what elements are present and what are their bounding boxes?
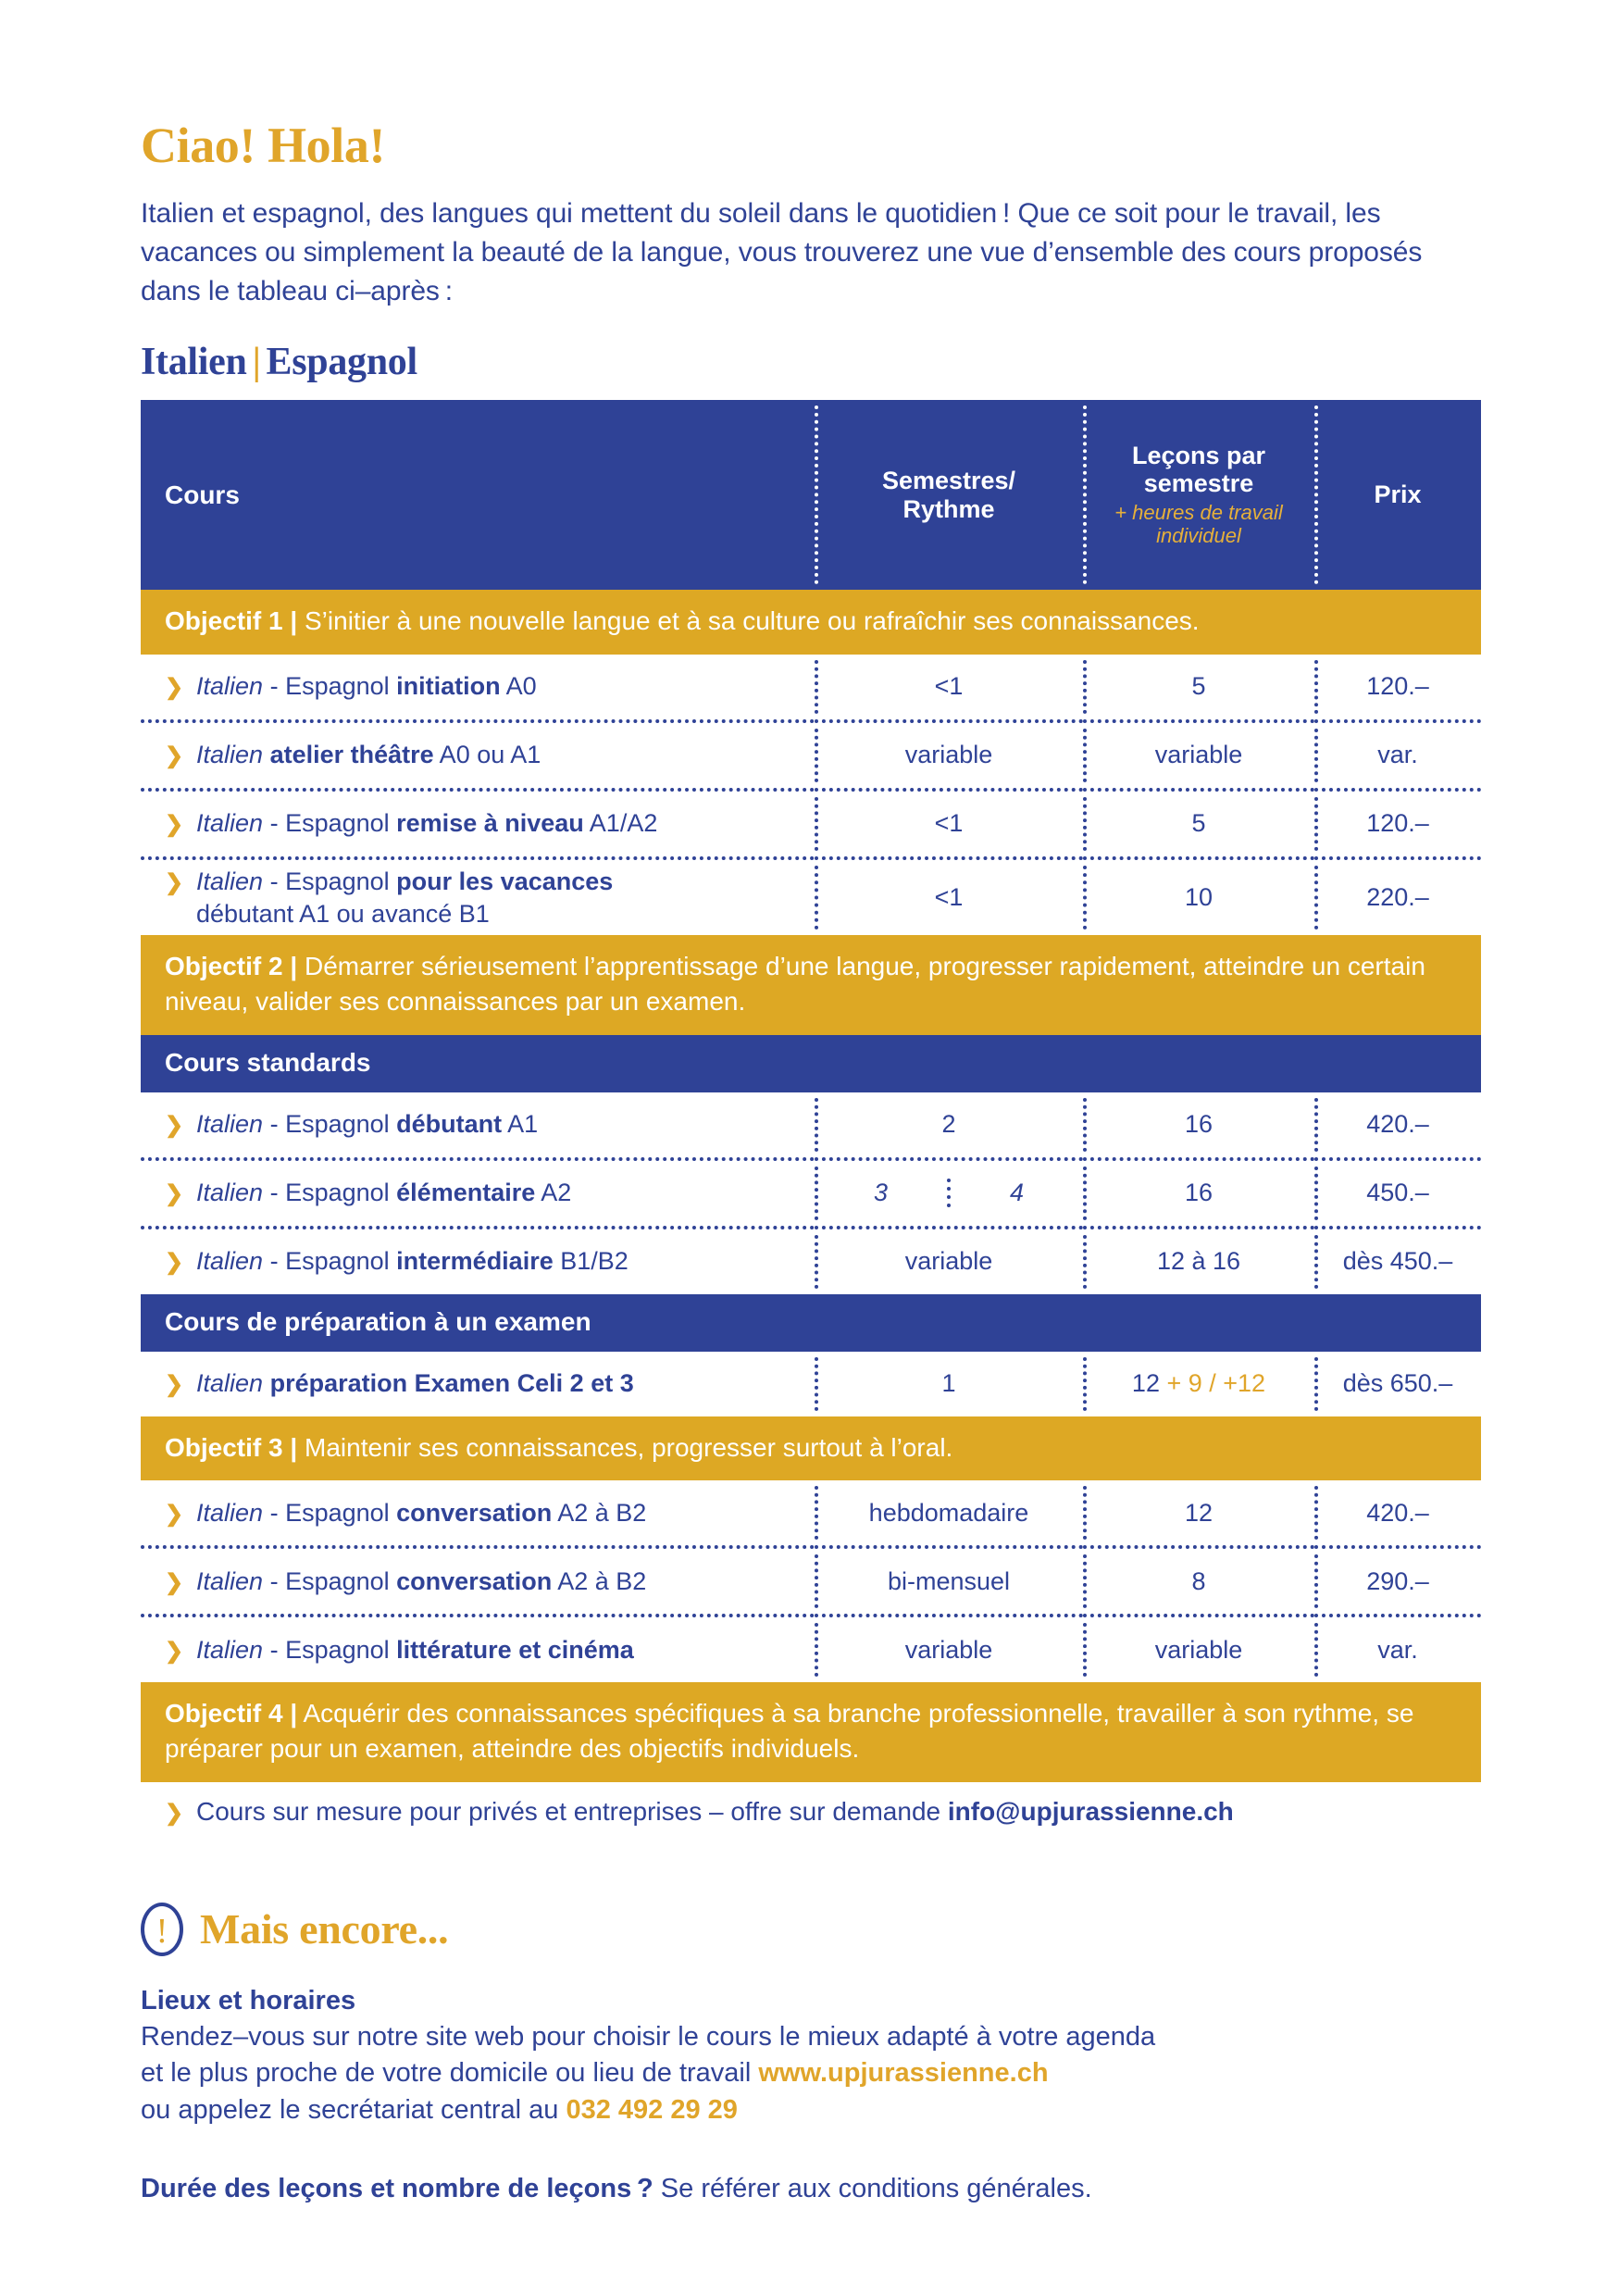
course-level-bold: remise à niveau <box>396 809 584 837</box>
course-level-bold: débutant <box>396 1110 502 1138</box>
chevron-right-icon: ❯ <box>165 1501 196 1529</box>
column-header-semesters-line2: Rythme <box>902 495 994 523</box>
objective-band-4: Objectif 4 | Acquérir des connaissances … <box>141 1682 1481 1782</box>
courses-table: Cours Semestres/ Rythme Leçons par semes… <box>141 400 1481 1836</box>
course-level-tail: A1 <box>502 1110 538 1138</box>
locations-line-1: Rendez–vous sur notre site web pour choi… <box>141 2019 1455 2055</box>
cell-semesters: <1 <box>815 790 1083 858</box>
more-section-title: Mais encore... <box>200 1908 448 1951</box>
locations-heading: Lieux et horaires <box>141 1984 1455 2019</box>
cell-lessons: variable <box>1083 1616 1314 1682</box>
course-name-cell: ❯Italien - Espagnol élémentaire A2 <box>141 1159 815 1228</box>
locations-line-3: ou appelez le secrétariat central au 032… <box>141 2092 1455 2128</box>
cell-lessons: variable <box>1083 721 1314 790</box>
course-lang: Italien <box>196 1247 263 1275</box>
cell-semesters-option-b: 4 <box>947 1179 1083 1207</box>
course-name-cell: ❯Italien - Espagnol débutant A1 <box>141 1092 815 1159</box>
table-row[interactable]: ❯Italien - Espagnol débutant A1 2 16 420… <box>141 1092 1481 1159</box>
course-lang: Italien <box>196 1369 263 1397</box>
course-name-cell: ❯Italien - Espagnol remise à niveau A1/A… <box>141 790 815 858</box>
table-row[interactable]: ❯Italien - Espagnol remise à niveau A1/A… <box>141 790 1481 858</box>
locations-line-2-text: et le plus proche de votre domicile ou l… <box>141 2058 758 2088</box>
column-header-lessons-line2: semestre <box>1144 469 1254 497</box>
chevron-right-icon: ❯ <box>165 1249 196 1278</box>
course-lang: Italien <box>196 672 263 700</box>
table-header-row: Cours Semestres/ Rythme Leçons par semes… <box>141 400 1481 590</box>
cell-semesters: hebdomadaire <box>815 1480 1083 1547</box>
cell-semesters: variable <box>815 1228 1083 1294</box>
course-level-bold: pour les vacances <box>396 867 613 895</box>
table-row[interactable]: ❯Italien - Espagnol littérature et ciném… <box>141 1616 1481 1682</box>
objective-band-3-content: Objectif 3 | Maintenir ses connaissances… <box>141 1416 1481 1481</box>
course-level-bold: préparation Examen Celi 2 et 3 <box>270 1369 634 1397</box>
objective-2-label: Objectif 2 <box>165 952 283 980</box>
cell-price: 220.– <box>1314 858 1481 935</box>
chevron-right-icon: ❯ <box>165 1371 196 1400</box>
course-level-bold: atelier théâtre <box>270 741 434 768</box>
subsection-band-exam: Cours de préparation à un examen <box>141 1294 1481 1352</box>
cell-lessons: 16 <box>1083 1159 1314 1228</box>
chevron-right-icon: ❯ <box>165 869 196 898</box>
cell-lessons: 12 à 16 <box>1083 1228 1314 1294</box>
course-lang2: Espagnol <box>285 1499 396 1527</box>
table-row[interactable]: ❯Italien - Espagnol élémentaire A2 3 4 1… <box>141 1159 1481 1228</box>
course-dash: - <box>263 1110 285 1138</box>
course-dash: - <box>263 672 285 700</box>
cell-price: dès 450.– <box>1314 1228 1481 1294</box>
table-row[interactable]: ❯Italien préparation Examen Celi 2 et 3 … <box>141 1352 1481 1416</box>
cell-price: dès 650.– <box>1314 1352 1481 1416</box>
cell-semesters: 1 <box>815 1352 1083 1416</box>
course-name-cell: ❯Italien préparation Examen Celi 2 et 3 <box>141 1352 815 1416</box>
cell-semesters-split: 3 4 <box>815 1159 1083 1228</box>
course-second-line: débutant A1 ou avancé B1 <box>196 900 490 928</box>
column-header-course: Cours <box>141 400 815 590</box>
course-lang2: Espagnol <box>285 672 396 700</box>
chevron-right-icon: ❯ <box>165 742 196 771</box>
locations-block: Lieux et horaires Rendez–vous sur notre … <box>141 1984 1455 2128</box>
section-title-languages: Italien|Espagnol <box>141 343 1479 381</box>
course-level-tail: B1/B2 <box>554 1247 629 1275</box>
objective-band-4-content: Objectif 4 | Acquérir des connaissances … <box>141 1682 1481 1782</box>
course-dash: - <box>263 867 285 895</box>
cell-price: 450.– <box>1314 1159 1481 1228</box>
course-lang2: Espagnol <box>285 1179 396 1206</box>
course-name-cell: ❯Italien - Espagnol littérature et ciném… <box>141 1616 815 1682</box>
course-level-bold: conversation <box>396 1499 552 1527</box>
cell-price: var. <box>1314 721 1481 790</box>
course-level-bold: intermédiaire <box>396 1247 554 1275</box>
course-dash: - <box>263 1636 285 1664</box>
course-level-tail: A0 <box>501 672 537 700</box>
locations-line-2: et le plus proche de votre domicile ou l… <box>141 2055 1455 2091</box>
objective-3-text: Maintenir ses connaissances, progresser … <box>305 1433 952 1462</box>
course-dash <box>263 741 270 768</box>
chevron-right-icon: ❯ <box>165 1800 196 1827</box>
course-lang2: Espagnol <box>285 1247 396 1275</box>
chevron-right-icon: ❯ <box>165 1638 196 1666</box>
lesson-duration-answer: Se référer aux conditions générales. <box>653 2174 1092 2203</box>
objective-3-label: Objectif 3 <box>165 1433 283 1462</box>
cell-lessons: 12 <box>1083 1480 1314 1547</box>
course-lang2: Espagnol <box>285 809 396 837</box>
objective-band-1: Objectif 1 | S’initier à une nouvelle la… <box>141 590 1481 655</box>
cell-lessons: 8 <box>1083 1547 1314 1616</box>
course-lang2: Espagnol <box>285 1110 396 1138</box>
objective-2-bar: | <box>290 952 297 980</box>
locations-line-3-text: ou appelez le secrétariat central au <box>141 2095 566 2125</box>
section-title-spanish: Espagnol <box>267 341 417 383</box>
contact-email-link[interactable]: info@upjurassienne.ch <box>948 1797 1234 1826</box>
section-title-italian: Italien <box>141 341 247 383</box>
cell-lessons: 5 <box>1083 655 1314 721</box>
cell-semesters: <1 <box>815 655 1083 721</box>
subsection-band-standards: Cours standards <box>141 1035 1481 1092</box>
course-lang: Italien <box>196 1567 263 1595</box>
course-level-tail: A2 à B2 <box>552 1499 646 1527</box>
course-name-cell: ❯Italien - Espagnol intermédiaire B1/B2 <box>141 1228 815 1294</box>
chevron-right-icon: ❯ <box>165 811 196 840</box>
course-name-cell: ❯Italien - Espagnol conversation A2 à B2 <box>141 1547 815 1616</box>
page-title: Ciao! Hola! <box>141 120 1479 170</box>
course-level-tail: A2 <box>535 1179 571 1206</box>
lesson-duration-question: Durée des leçons et nombre de leçons ? <box>141 2174 653 2203</box>
course-lang: Italien <box>196 1499 263 1527</box>
column-header-lessons-note: + heures de travail individuel <box>1083 501 1314 548</box>
more-section-header: ! Mais encore... <box>141 1903 1479 1956</box>
cell-semesters-option-a: 3 <box>815 1179 947 1207</box>
cell-price: 420.– <box>1314 1480 1481 1547</box>
course-dash: - <box>263 1247 285 1275</box>
cell-lessons: 10 <box>1083 858 1314 935</box>
cell-lessons: 16 <box>1083 1092 1314 1159</box>
course-lang2: Espagnol <box>285 867 396 895</box>
cell-semesters: variable <box>815 1616 1083 1682</box>
course-dash: - <box>263 1499 285 1527</box>
course-lang: Italien <box>196 809 263 837</box>
chevron-right-icon: ❯ <box>165 1569 196 1598</box>
course-lang: Italien <box>196 867 263 895</box>
cell-semesters: variable <box>815 721 1083 790</box>
table-row-custom-offer[interactable]: ❯Cours sur mesure pour privés et entrepr… <box>141 1782 1481 1836</box>
section-title-separator: | <box>247 341 267 383</box>
course-level-tail: A0 ou A1 <box>434 741 541 768</box>
subsection-standards-label: Cours standards <box>141 1035 1481 1092</box>
objective-band-1-content: Objectif 1 | S’initier à une nouvelle la… <box>141 590 1481 655</box>
website-link[interactable]: www.upjurassienne.ch <box>758 2058 1048 2088</box>
chevron-right-icon: ❯ <box>165 1112 196 1141</box>
cell-price: 120.– <box>1314 790 1481 858</box>
objective-band-3: Objectif 3 | Maintenir ses connaissances… <box>141 1416 1481 1481</box>
cell-price: var. <box>1314 1616 1481 1682</box>
table-row[interactable]: ❯Italien - Espagnol conversation A2 à B2… <box>141 1480 1481 1547</box>
phone-number[interactable]: 032 492 29 29 <box>566 2095 737 2125</box>
objective-1-bar: | <box>290 606 297 635</box>
objective-4-text: Acquérir des connaissances spécifiques à… <box>165 1699 1413 1763</box>
course-lang: Italien <box>196 1110 263 1138</box>
cell-lessons-base: 12 <box>1132 1369 1160 1397</box>
objective-2-text: Démarrer sérieusement l’apprentissage d’… <box>165 952 1425 1016</box>
course-level-bold: initiation <box>396 672 500 700</box>
cell-lessons: 12 + 9 / +12 <box>1083 1352 1314 1416</box>
flyer-page: Ciao! Hola! Italien et espagnol, des lan… <box>0 0 1618 2296</box>
course-lang: Italien <box>196 1179 263 1206</box>
cell-lessons: 5 <box>1083 790 1314 858</box>
intro-paragraph: Italien et espagnol, des langues qui met… <box>141 194 1437 311</box>
cell-price: 420.– <box>1314 1092 1481 1159</box>
objective-4-label: Objectif 4 <box>165 1699 283 1728</box>
course-lang2: Espagnol <box>285 1636 396 1664</box>
table-row[interactable]: ❯Italien - Espagnol pour les vacances dé… <box>141 858 1481 935</box>
course-name-cell: ❯Italien - Espagnol conversation A2 à B2 <box>141 1480 815 1547</box>
column-header-semesters-line1: Semestres/ <box>882 467 1015 494</box>
subsection-exam-label: Cours de préparation à un examen <box>141 1294 1481 1352</box>
cell-price: 290.– <box>1314 1547 1481 1616</box>
objective-3-bar: | <box>290 1433 297 1462</box>
course-level-tail: A1/A2 <box>584 809 658 837</box>
cell-price: 120.– <box>1314 655 1481 721</box>
column-header-lessons: Leçons par semestre + heures de travail … <box>1083 400 1314 590</box>
cell-semesters: <1 <box>815 858 1083 935</box>
objective-band-2-content: Objectif 2 | Démarrer sérieusement l’app… <box>141 935 1481 1035</box>
course-level-bold: littérature et cinéma <box>396 1636 634 1664</box>
cell-lessons-extra: + 9 / +12 <box>1160 1369 1265 1397</box>
course-dash: - <box>263 809 285 837</box>
course-level-bold: conversation <box>396 1567 552 1595</box>
course-name-cell: ❯Italien atelier théâtre A0 ou A1 <box>141 721 815 790</box>
column-header-lessons-line1: Leçons par <box>1132 442 1265 469</box>
cell-semesters: 2 <box>815 1092 1083 1159</box>
table-row[interactable]: ❯Italien - Espagnol conversation A2 à B2… <box>141 1547 1481 1616</box>
custom-offer-text: Cours sur mesure pour privés et entrepri… <box>196 1797 948 1826</box>
course-dash: - <box>263 1179 285 1206</box>
course-lang: Italien <box>196 1636 263 1664</box>
objective-4-bar: | <box>290 1699 297 1728</box>
custom-offer-cell: ❯Cours sur mesure pour privés et entrepr… <box>141 1782 1481 1836</box>
course-level-tail: A2 à B2 <box>552 1567 646 1595</box>
table-row[interactable]: ❯Italien - Espagnol initiation A0 <1 5 1… <box>141 655 1481 721</box>
column-header-semesters: Semestres/ Rythme <box>815 400 1083 590</box>
course-level-bold: élémentaire <box>396 1179 535 1206</box>
lesson-duration-note: Durée des leçons et nombre de leçons ? S… <box>141 2171 1479 2207</box>
course-name-cell: ❯Italien - Espagnol pour les vacances dé… <box>141 858 815 935</box>
exclamation-circle-icon: ! <box>141 1903 183 1956</box>
course-lang: Italien <box>196 741 263 768</box>
chevron-right-icon: ❯ <box>165 1180 196 1209</box>
table-row[interactable]: ❯Italien atelier théâtre A0 ou A1 variab… <box>141 721 1481 790</box>
course-name-cell: ❯Italien - Espagnol initiation A0 <box>141 655 815 721</box>
table-row[interactable]: ❯Italien - Espagnol intermédiaire B1/B2 … <box>141 1228 1481 1294</box>
objective-1-label: Objectif 1 <box>165 606 283 635</box>
cell-semesters: bi-mensuel <box>815 1547 1083 1616</box>
course-dash: - <box>263 1567 285 1595</box>
course-lang2: Espagnol <box>285 1567 396 1595</box>
column-header-price: Prix <box>1314 400 1481 590</box>
objective-1-text: S’initier à une nouvelle langue et à sa … <box>305 606 1200 635</box>
course-dash <box>263 1369 270 1397</box>
objective-band-2: Objectif 2 | Démarrer sérieusement l’app… <box>141 935 1481 1035</box>
chevron-right-icon: ❯ <box>165 674 196 703</box>
